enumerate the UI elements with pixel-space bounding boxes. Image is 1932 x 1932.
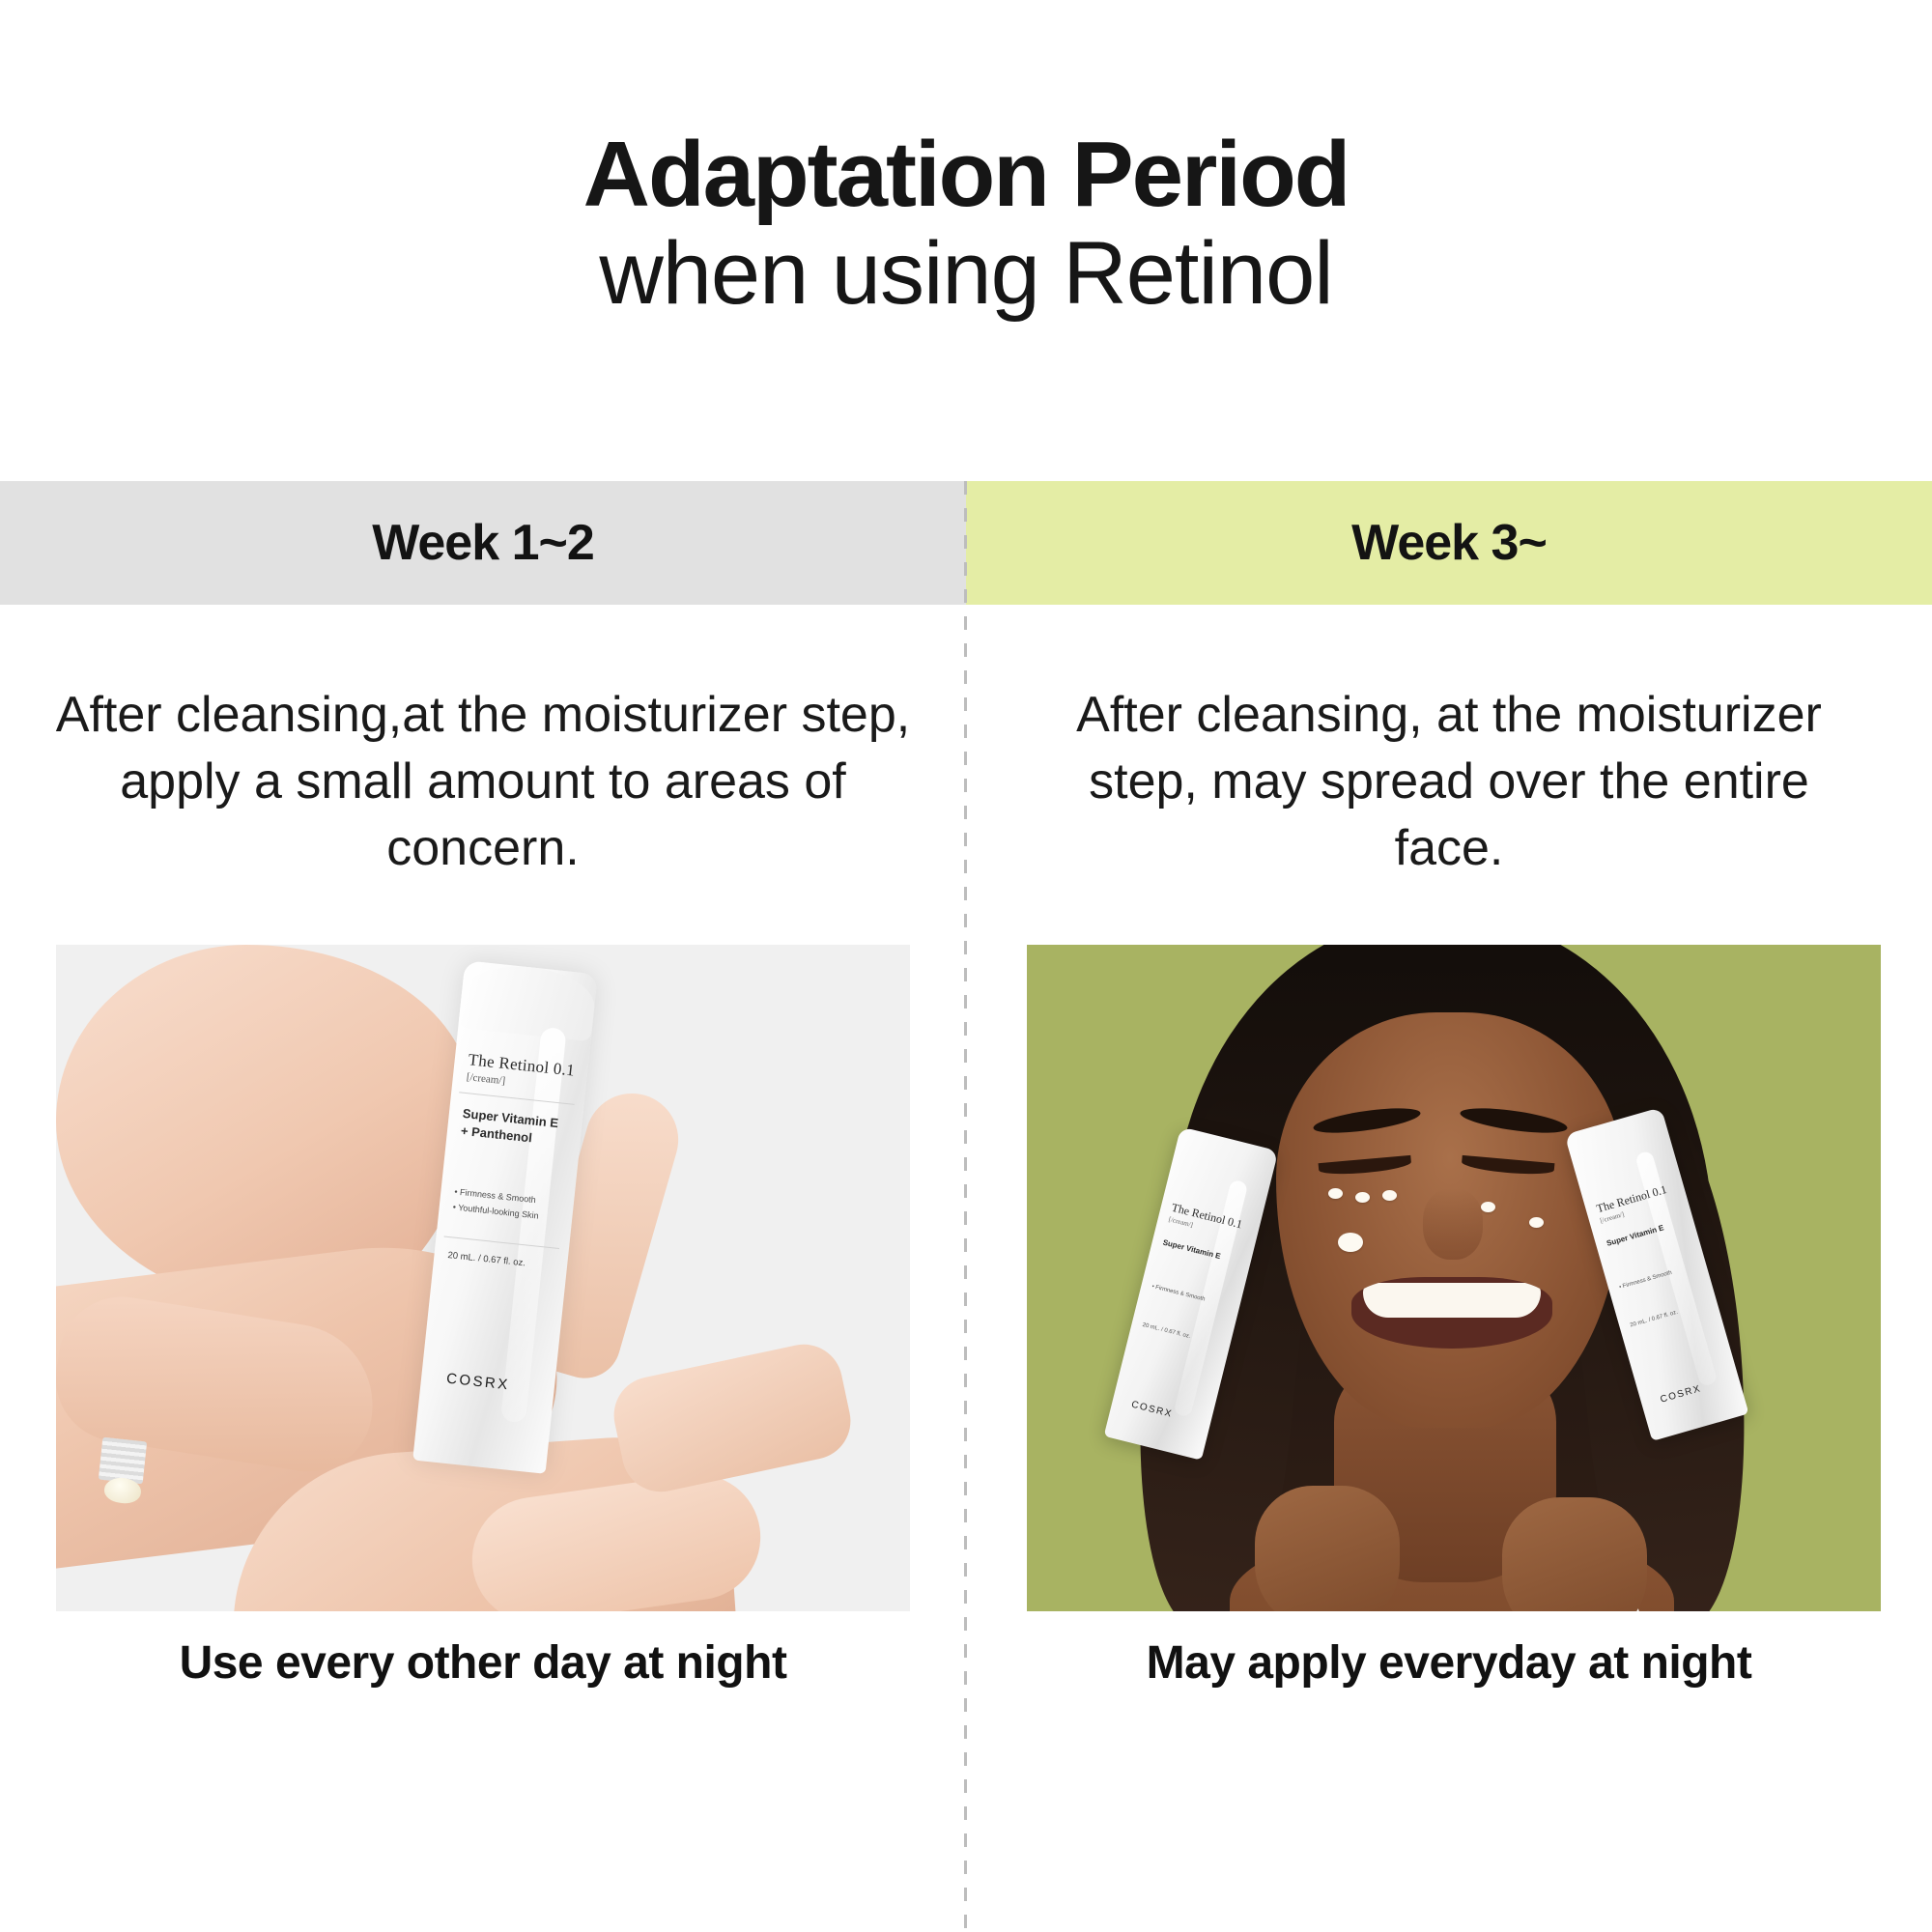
tube-product-subtitle: [/cream/]: [466, 1071, 505, 1087]
cream-dot: [1481, 1202, 1495, 1212]
header-cell-week-3: Week 3~: [966, 481, 1932, 605]
tube-brand-logo: COSRX: [1130, 1400, 1174, 1420]
cream-dot: [1355, 1192, 1370, 1203]
model-teeth: [1363, 1283, 1541, 1318]
photo-week-1-2: The Retinol 0.1 [/cream/] Super Vitamin …: [56, 945, 910, 1611]
tube-benefit-1: • Firmness & Smooth: [1151, 1283, 1206, 1304]
tube-brand-logo: COSRX: [1660, 1383, 1703, 1406]
tube-active-ingredient-1: Super Vitamin E: [1162, 1238, 1222, 1263]
tube-benefit-1: • Firmness & Smooth: [1618, 1269, 1673, 1293]
photo-week-1-2-artwork: The Retinol 0.1 [/cream/] Super Vitamin …: [56, 945, 910, 1611]
page-title-block: Adaptation Period when using Retinol: [0, 0, 1932, 324]
page-title-primary: Adaptation Period: [0, 126, 1932, 224]
photo-week-3: The Retinol 0.1 [/cream/] Super Vitamin …: [1027, 945, 1881, 1611]
page-title-secondary: when using Retinol: [0, 224, 1932, 324]
header-label-week-1-2: Week 1~2: [372, 514, 594, 572]
caption-week-3: May apply everyday at night: [966, 1636, 1932, 1690]
column-week-1-2: After cleansing,at the moisturizer step,…: [0, 605, 966, 1932]
tube-active-ingredient-1: Super Vitamin E: [1605, 1223, 1665, 1249]
cream-dot: [1338, 1233, 1363, 1252]
model-fist-left: [1255, 1486, 1400, 1611]
tube-brand-logo: COSRX: [445, 1371, 510, 1394]
description-week-1-2: After cleansing,at the moisturizer step,…: [0, 682, 966, 882]
tube-highlight: [500, 1027, 567, 1423]
tube-shoulder: [458, 960, 598, 1041]
caption-week-1-2: Use every other day at night: [0, 1636, 966, 1690]
model-fist-right: [1502, 1497, 1647, 1611]
column-divider: [964, 481, 967, 1932]
header-cell-week-1-2: Week 1~2: [0, 481, 966, 605]
cream-dot: [1382, 1190, 1397, 1201]
tube-volume: 20 mL. / 0.67 fl. oz.: [1630, 1310, 1679, 1329]
middle-finger: [607, 1337, 858, 1498]
model-nose: [1423, 1188, 1483, 1260]
photo-week-3-artwork: The Retinol 0.1 [/cream/] Super Vitamin …: [1027, 945, 1881, 1611]
cream-dot: [1529, 1217, 1544, 1228]
column-week-3: After cleansing, at the moisturizer step…: [966, 605, 1932, 1932]
description-week-3: After cleansing, at the moisturizer step…: [966, 682, 1932, 882]
tube-volume: 20 mL. / 0.67 fl. oz.: [447, 1250, 526, 1268]
tube-volume: 20 mL. / 0.67 fl. oz.: [1142, 1322, 1191, 1340]
cream-dot: [1328, 1188, 1343, 1199]
model-smile: [1351, 1277, 1552, 1349]
header-label-week-3: Week 3~: [1351, 514, 1547, 572]
